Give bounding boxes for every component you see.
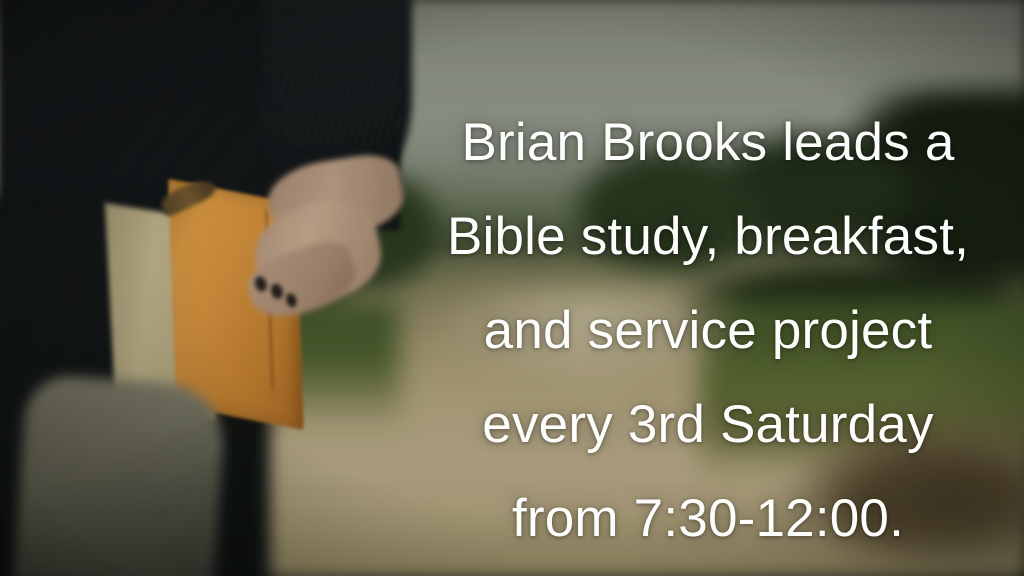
sleeve-cuff-ribbing [280, 70, 400, 150]
caption-line-2: Bible study, breakfast, [392, 190, 1024, 284]
caption-line-1: Brian Brooks leads a [392, 96, 1024, 190]
hand-holding-bible [246, 192, 389, 313]
bible-shadow [120, 395, 310, 445]
fingers [241, 235, 363, 327]
grass-strip-left [0, 300, 400, 430]
bible-page-block [105, 203, 215, 421]
denim-jeans-lower [13, 373, 227, 576]
dark-trouser-leg [0, 195, 270, 576]
caption-line-4: every 3rd Saturday [392, 378, 1024, 472]
forearm [263, 150, 408, 245]
caption-line-5: from 7:30-12:00. [392, 472, 1024, 566]
jacket-sleeve [262, 0, 412, 205]
caption-line-3: and service project [392, 284, 1024, 378]
denim-jeans-pocket [0, 0, 222, 261]
announcement-slide: Brian Brooks leads a Bible study, breakf… [0, 0, 1024, 576]
denim-pocket-shadow [2, 29, 187, 171]
dark-denim-jacket [0, 0, 400, 230]
painted-fingernails [249, 265, 301, 319]
bible-leather-strap [158, 174, 218, 218]
bible-cover-stitching [265, 209, 274, 391]
announcement-caption: Brian Brooks leads a Bible study, breakf… [392, 96, 1024, 566]
bible-leather-cover [168, 179, 304, 431]
